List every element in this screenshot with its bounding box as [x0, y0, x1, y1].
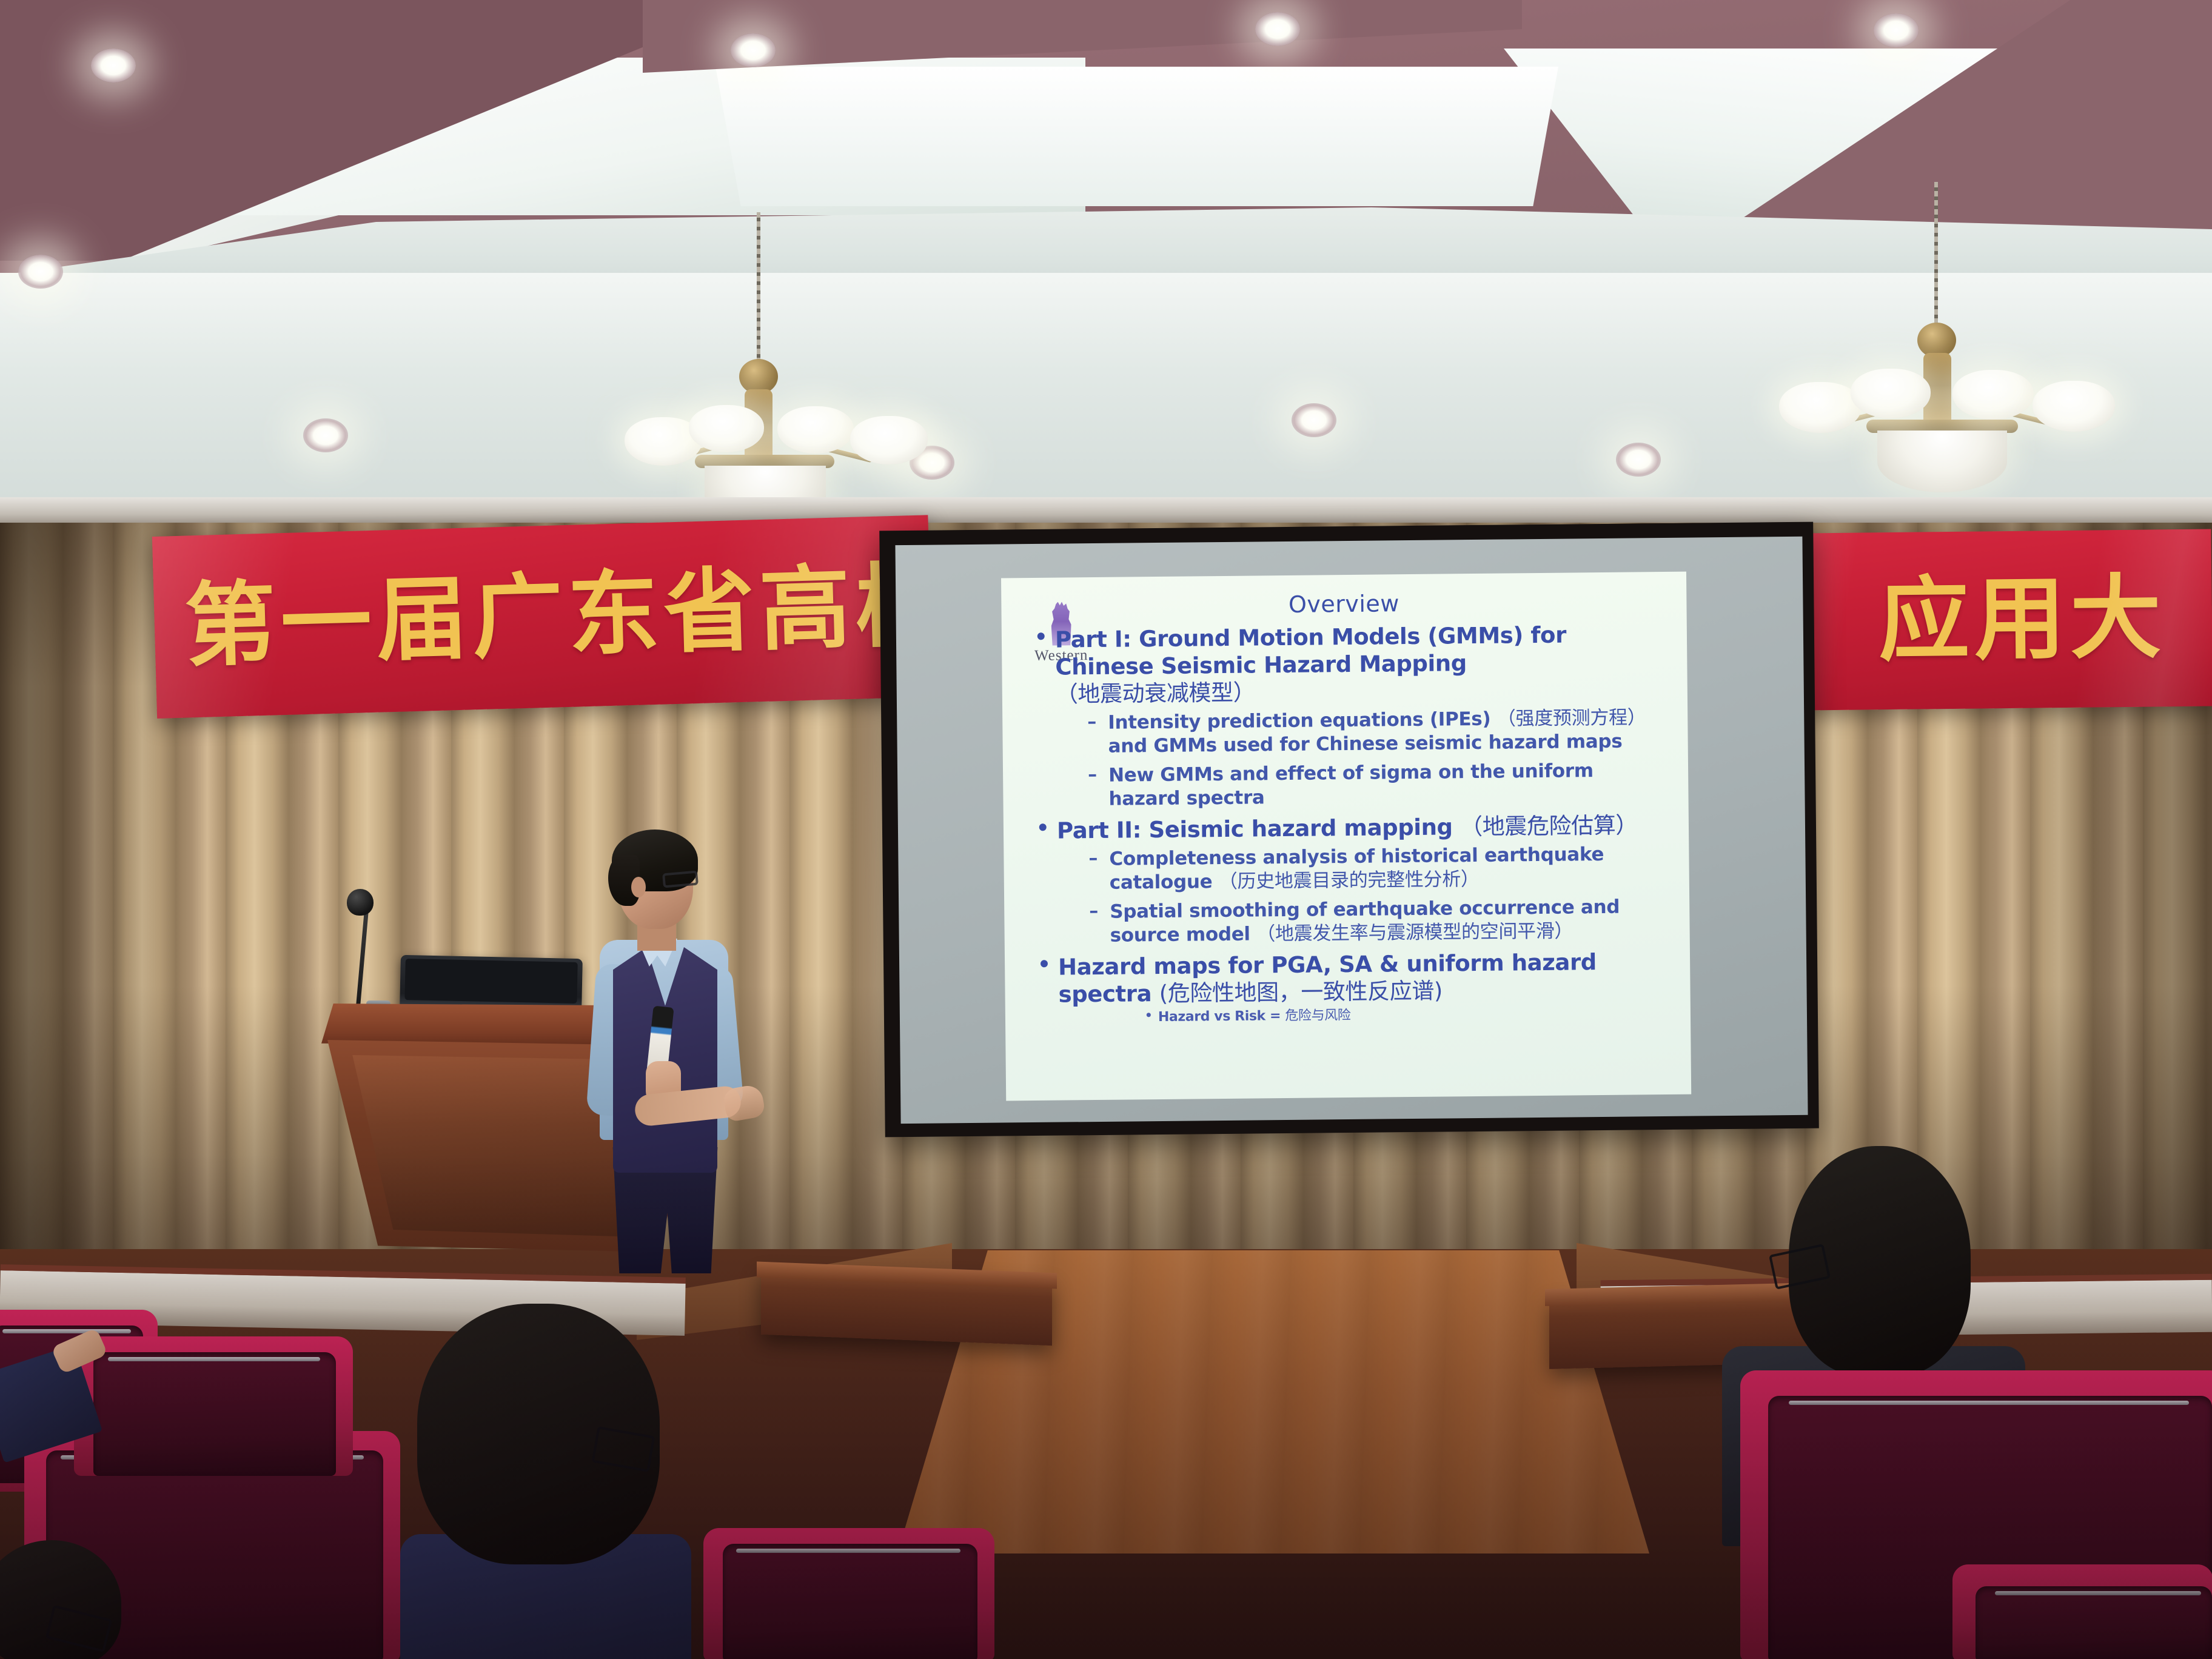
presentation-slide: Western Overview Part I: Ground Motion M…: [1001, 572, 1691, 1101]
presenter-laptop[interactable]: [400, 955, 583, 1012]
event-banner-left: 第一届广东省高校: [152, 515, 933, 719]
seat-back[interactable]: [1976, 1586, 2212, 1659]
slide-bullet-level1: Part I: Ground Motion Models (GMMs) for …: [1031, 620, 1671, 811]
chandelier-shade: [1851, 369, 1931, 418]
slide-footnote-list: Hazard vs Risk = 危险与风险: [1059, 1005, 1672, 1027]
bullet-text-en-a: Intensity prediction equations (IPEs): [1108, 708, 1490, 734]
recessed-downlight-icon: [18, 255, 63, 289]
lecture-hall-photo: 第一届广东省高校 ）应用大 Western Overview Part I: G…: [0, 0, 2212, 1659]
event-banner-left-text: 第一届广东省高校: [184, 560, 933, 672]
chandelier-shade: [689, 405, 764, 452]
slide-bullet-level2: New GMMs and effect of sigma on the unif…: [1088, 759, 1671, 811]
seat-chrome-trim: [1995, 1591, 2201, 1595]
bullet-text-cn: （强度预测方程）: [1497, 707, 1646, 730]
bullet-text-en: Part I: Ground Motion Models (GMMs) for …: [1055, 622, 1566, 680]
chandelier-shade: [777, 406, 854, 454]
slide-bullet-level1: Hazard maps for PGA, SA & uniform hazard…: [1034, 948, 1672, 1027]
recessed-downlight-icon: [1616, 443, 1661, 477]
footnote-text-en: Hazard vs Risk =: [1158, 1008, 1285, 1025]
presenter-ear: [631, 877, 646, 897]
recessed-downlight-icon: [1874, 13, 1919, 47]
bullet-text-cn: （历史地震目录的完整性分析）: [1219, 868, 1480, 893]
slide-bullet-level2: Intensity prediction equations (IPEs) （强…: [1087, 706, 1670, 758]
chandelier-chain: [757, 212, 760, 364]
chandelier-right: [1752, 182, 2140, 546]
recessed-downlight-icon: [91, 49, 136, 82]
eyeglasses-icon: [662, 871, 699, 888]
audience-member-center-left: [364, 1304, 703, 1655]
ceiling-coffer-inner: [716, 67, 1558, 206]
slide-bullet-level2: Completeness analysis of historical eart…: [1088, 842, 1671, 894]
slide-sublist: Completeness analysis of historical eart…: [1057, 842, 1672, 947]
bullet-text-en-b: and GMMs used for Chinese seismic hazard…: [1108, 730, 1622, 757]
recessed-downlight-icon: [731, 33, 776, 67]
audience-seating: [0, 1201, 2212, 1659]
bullet-text-cn: (危险性地图，一致性反应谱): [1159, 978, 1443, 1007]
slide-bullet-level1: Part II: Seismic hazard mapping （地震危险估算）…: [1033, 811, 1672, 948]
event-banner-right-text: ）应用大: [1782, 572, 2167, 668]
chandelier-shade: [1779, 382, 1862, 433]
bullet-text-cn: （地震危险估算）: [1460, 813, 1638, 840]
chandelier-chain: [1934, 182, 1938, 327]
recessed-downlight-icon: [303, 418, 348, 452]
bullet-text-en: Part II: Seismic hazard mapping: [1057, 814, 1453, 843]
wall-cornice-moulding: [0, 497, 2212, 525]
projection-screen-surface: Western Overview Part I: Ground Motion M…: [895, 537, 1808, 1124]
event-banner-right: ）应用大: [1775, 529, 2212, 711]
slide-sublist: Intensity prediction equations (IPEs) （强…: [1056, 706, 1671, 811]
slide-bullet-list: Part I: Ground Motion Models (GMMs) for …: [1020, 620, 1672, 1027]
slide-bullet-level2: Spatial smoothing of earthquake occurren…: [1089, 895, 1672, 947]
seat-chrome-trim: [1789, 1401, 2189, 1405]
chandelier-shade: [1952, 370, 2034, 420]
bullet-text-en-a: New GMMs and effect of sigma on the unif…: [1108, 760, 1594, 809]
chandelier-shade: [2033, 381, 2115, 432]
chandelier-shade: [850, 416, 928, 464]
slide-title: Overview: [1019, 588, 1668, 620]
audience-member-pointing: [0, 1302, 146, 1430]
slide-bullet-level3: Hazard vs Risk = 危险与风险: [1142, 1005, 1672, 1026]
recessed-downlight-icon: [1292, 403, 1336, 437]
footnote-text-cn: 危险与风险: [1285, 1008, 1350, 1024]
bullet-text-cn: （地震动衰减模型）: [1056, 680, 1256, 708]
seat-chrome-trim: [736, 1549, 960, 1553]
chandelier-bowl: [1877, 431, 2007, 492]
gooseneck-microphone-icon: [347, 889, 374, 916]
recessed-downlight-icon: [1255, 12, 1300, 46]
audience-member-foreground-left: [0, 1540, 139, 1659]
bullet-text-cn: （地震发生率与震源模型的空间平滑）: [1256, 920, 1573, 945]
seat-back[interactable]: [723, 1544, 977, 1659]
projection-screen: Western Overview Part I: Ground Motion M…: [879, 522, 1819, 1138]
